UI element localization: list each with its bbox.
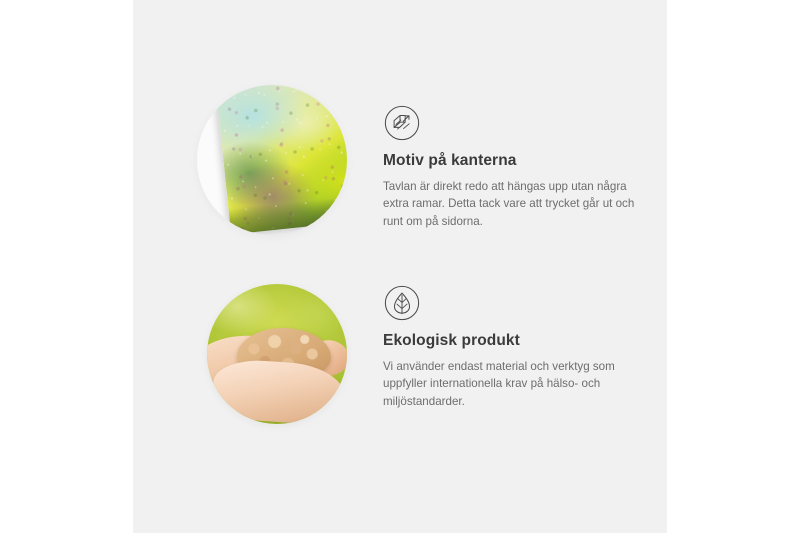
canvas-texture [216, 85, 347, 235]
canvas-edge-print-icon [383, 104, 421, 142]
feature-text-eco-product: Ekologisk produkt Vi använder endast mat… [383, 284, 663, 410]
feature-description: Tavlan är direkt redo att hängas upp uta… [383, 178, 655, 231]
feature-block-eco-product: Ekologisk produkt Vi använder endast mat… [133, 260, 667, 533]
feature-description: Vi använder endast material och verktyg … [383, 358, 655, 411]
feature-block-canvas-edges: Motiv på kanterna Tavlan är direkt redo … [133, 0, 667, 260]
wood-chips-in-hands-photo [207, 284, 347, 424]
leaf-icon [383, 284, 421, 322]
content-panel: Motiv på kanterna Tavlan är direkt redo … [133, 0, 667, 533]
feature-title: Motiv på kanterna [383, 152, 663, 171]
feature-text-canvas-edges: Motiv på kanterna Tavlan är direkt redo … [383, 104, 663, 230]
product-feature-infographic: Motiv på kanterna Tavlan är direkt redo … [0, 0, 800, 533]
canvas-corner-photo [197, 85, 347, 235]
feature-title: Ekologisk produkt [383, 332, 663, 351]
canvas-artwork [216, 85, 347, 235]
